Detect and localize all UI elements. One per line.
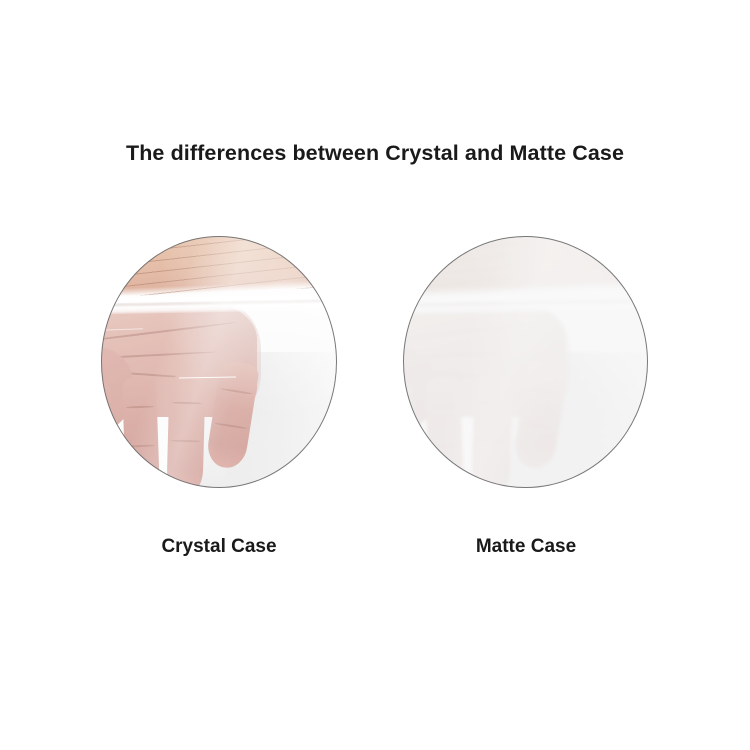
comparison-item-matte[interactable]: Matte Case (403, 236, 648, 488)
crystal-case-image-circle (101, 236, 337, 488)
matte-case-image-circle (403, 236, 648, 488)
comparison-item-crystal[interactable]: Crystal Case (101, 236, 337, 488)
finger (101, 381, 117, 488)
fingers-group (403, 236, 648, 488)
matte-case-photo (403, 236, 648, 488)
finger (425, 377, 464, 488)
case-edge-specular (403, 295, 648, 303)
finger (166, 374, 206, 488)
finger (121, 377, 159, 488)
caption-crystal-case: Crystal Case (61, 535, 377, 559)
case-edge-specular (101, 295, 337, 303)
caption-matte-case: Matte Case (373, 535, 679, 559)
crystal-case-photo (101, 236, 337, 488)
page-title: The differences between Crystal and Matt… (0, 139, 750, 167)
comparison-row: Crystal Case (0, 236, 750, 576)
fingers-group (101, 236, 337, 488)
finger (512, 359, 569, 470)
finger (403, 381, 420, 488)
product-comparison-page: The differences between Crystal and Matt… (0, 0, 750, 750)
finger (471, 374, 512, 488)
